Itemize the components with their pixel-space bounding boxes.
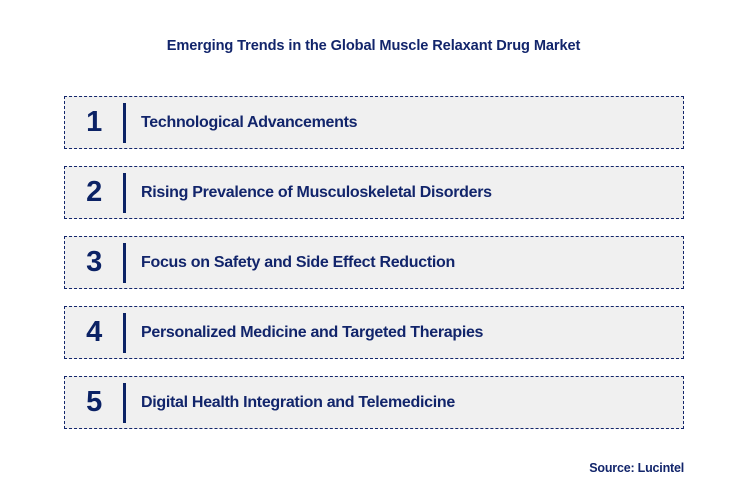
source-attribution: Source: Lucintel <box>589 461 684 475</box>
trend-list: 1 Technological Advancements 2 Rising Pr… <box>64 96 684 429</box>
trend-number: 1 <box>65 108 123 137</box>
list-item[interactable]: 3 Focus on Safety and Side Effect Reduct… <box>64 236 684 289</box>
list-item[interactable]: 2 Rising Prevalence of Musculoskeletal D… <box>64 166 684 219</box>
list-item[interactable]: 1 Technological Advancements <box>64 96 684 149</box>
trend-label: Digital Health Integration and Telemedic… <box>126 394 683 412</box>
trend-label: Technological Advancements <box>126 114 683 132</box>
list-item[interactable]: 5 Digital Health Integration and Telemed… <box>64 376 684 429</box>
trend-number: 2 <box>65 178 123 207</box>
trend-number: 4 <box>65 318 123 347</box>
trend-label: Personalized Medicine and Targeted Thera… <box>126 324 683 342</box>
list-item[interactable]: 4 Personalized Medicine and Targeted The… <box>64 306 684 359</box>
trend-number: 5 <box>65 388 123 417</box>
trend-label: Focus on Safety and Side Effect Reductio… <box>126 254 683 272</box>
trend-label: Rising Prevalence of Musculoskeletal Dis… <box>126 184 683 202</box>
infographic-canvas: Emerging Trends in the Global Muscle Rel… <box>0 0 729 501</box>
page-title: Emerging Trends in the Global Muscle Rel… <box>0 38 729 54</box>
trend-number: 3 <box>65 248 123 277</box>
